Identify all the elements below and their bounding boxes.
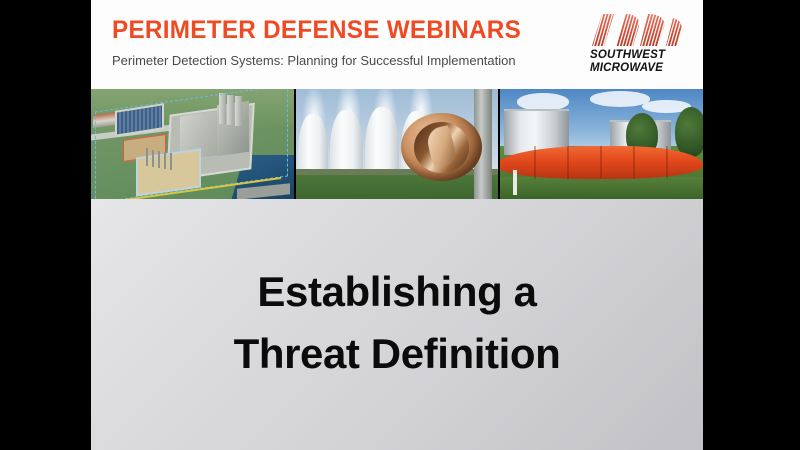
header-text-block: PERIMETER DEFENSE WEBINARS Perimeter Det… — [112, 16, 562, 69]
sky-cloud — [590, 91, 651, 106]
presentation-slide: PERIMETER DEFENSE WEBINARS Perimeter Det… — [91, 0, 703, 450]
barrier-rib — [633, 146, 635, 179]
slide-title: Establishing a Threat Definition — [91, 261, 703, 385]
slide-header-band: PERIMETER DEFENSE WEBINARS Perimeter Det… — [91, 0, 703, 89]
microwave-sensor-dish — [401, 113, 482, 181]
slide-title-line-1: Establishing a — [91, 261, 703, 323]
barrier-rib — [534, 146, 536, 179]
slide-body: Establishing a Threat Definition — [91, 199, 703, 450]
microwave-sensor-dish-cavity — [414, 122, 469, 172]
barrier-rib — [600, 146, 602, 179]
photo-storage-tanks-with-orange-barrier — [500, 89, 703, 199]
brand-wordmark: SOUTHWEST MICROWAVE — [588, 49, 688, 74]
slide-title-line-2: Threat Definition — [91, 323, 703, 385]
cooling-tower — [330, 110, 362, 175]
tree — [675, 107, 703, 158]
barrier-rib — [666, 146, 668, 179]
photo-aerial-industrial-plant-render — [91, 89, 294, 199]
brand-wordmark-line-2: MICROWAVE — [590, 62, 688, 75]
perimeter-post — [513, 170, 517, 194]
letterbox-right — [703, 0, 800, 450]
southwest-microwave-m-mark-icon — [588, 12, 684, 48]
barrier-rib — [567, 146, 569, 179]
slide-photo-strip — [91, 89, 703, 199]
brand-wordmark-line-1: SOUTHWEST — [590, 49, 688, 62]
orange-perimeter-barrier — [500, 146, 703, 179]
letterbox-left — [0, 0, 91, 450]
photo-cooling-towers-with-microwave-sensor — [296, 89, 499, 199]
webinar-subtitle: Perimeter Detection Systems: Planning fo… — [112, 53, 555, 69]
foreground-grass — [500, 177, 703, 199]
brand-logo: SOUTHWEST MICROWAVE — [588, 12, 688, 76]
cooling-tower — [365, 107, 399, 175]
webinar-series-title: PERIMETER DEFENSE WEBINARS — [112, 16, 549, 44]
microwave-sensor-dish-vane — [426, 125, 459, 170]
video-player-stage: PERIMETER DEFENSE WEBINARS Perimeter Det… — [0, 0, 800, 450]
cooling-tower — [298, 114, 328, 175]
